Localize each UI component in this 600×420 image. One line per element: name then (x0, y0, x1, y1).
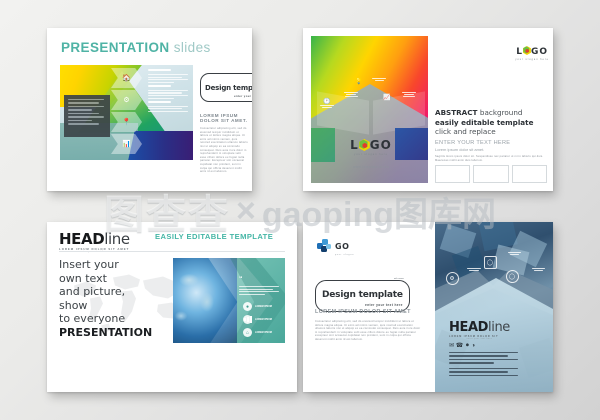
dark-text-card (64, 95, 110, 137)
quote-mark-icon: “ (239, 276, 243, 283)
divider (320, 105, 334, 106)
clock-icon: ◯ (506, 270, 519, 283)
slide-bl-body: Insert your own text and picture, show t… (59, 258, 171, 339)
heading-line3: click and replace (435, 127, 496, 136)
body-line-2: own text (59, 272, 107, 285)
home-icon: 🏠 (122, 74, 131, 82)
art-row-2[interactable]: LOREM IPSUM (243, 315, 272, 324)
heading-line2: easily editable template (435, 118, 533, 127)
slide-top-right[interactable]: 🕐 💡 (303, 28, 553, 191)
slide-br-section-heading: LOREM IPSUM DOLOR SIT AMET (315, 309, 411, 315)
chart-icon: 📊 (122, 140, 131, 148)
slide-top-left[interactable]: PRESENTATION slides 🏠 ⚙ 📍 📊 (47, 28, 252, 191)
divider (345, 96, 358, 97)
divider (68, 116, 104, 117)
divider (449, 371, 508, 372)
hexagon-logo-icon (359, 139, 370, 151)
divider (148, 69, 171, 71)
divider (449, 375, 518, 376)
divider (532, 268, 545, 269)
slide-br-text-panel: GO your slogan nick name Design template… (303, 222, 435, 392)
art-row-label: LOREM IPSUM (255, 305, 272, 308)
chart-icon: 📈 (377, 94, 397, 101)
divider (148, 111, 188, 112)
art-row-label: LOREM IPSUM (255, 318, 272, 321)
logo-wordmark: LGO (515, 46, 549, 57)
art-facet-1[interactable]: ⚙ (441, 272, 463, 285)
divider (346, 94, 356, 95)
clock-icon: 🕐 (317, 98, 337, 105)
cover-logo[interactable]: LGO your slogan here www.template-url.ru (341, 138, 401, 169)
slide-tl-title: PRESENTATION slides (61, 40, 211, 55)
gear-icon: ⚙ (123, 96, 129, 104)
design-template-badge[interactable]: nick name Design template enter your tex… (200, 73, 252, 102)
badge-subtitle: enter your text here (322, 303, 403, 307)
facet-item-2[interactable] (341, 92, 361, 99)
divider (449, 362, 494, 363)
slide-tl-body: Consectetur adipiscing elit, sed do eius… (200, 127, 248, 174)
divider (403, 96, 415, 97)
facet-item-4[interactable] (369, 78, 389, 82)
green-corner-shape (311, 128, 335, 162)
slide-tr-subheading: ENTER YOUR TEXT HERE (435, 140, 545, 146)
divider (148, 106, 188, 107)
divider (148, 77, 182, 78)
headline-bold: HEAD (59, 230, 104, 248)
body-strong: PRESENTATION (59, 326, 152, 339)
facet-item-3[interactable]: 💡 (349, 78, 369, 85)
slide-br-art-lines-1 (449, 352, 521, 366)
logo-url: www.template-url.ru (341, 165, 401, 169)
icon-row-glyphs: ✉ ☎ ⚫ ◑ (449, 342, 475, 349)
slide-tr-logo[interactable]: LGO your slogan here (515, 46, 549, 61)
divider (508, 252, 521, 253)
facet-lines (527, 268, 549, 271)
logo-wordmark-wrap: GO your slogan (335, 236, 354, 256)
slide-tr-heading: ABSTRACT background easily editable temp… (435, 108, 545, 137)
divider (68, 120, 92, 121)
slide-tl-title-light: slides (174, 40, 211, 55)
divider (68, 102, 99, 103)
slide-bottom-left[interactable]: HEADline LOREM IPSUM DOLOR SIT AMET ente… (47, 222, 297, 392)
facet-lines (369, 78, 389, 81)
divider (239, 291, 279, 292)
divider (449, 352, 518, 353)
body-line-5: to everyone (59, 312, 125, 325)
divider (148, 92, 182, 93)
badge-title: Design template (322, 290, 403, 300)
divider (344, 92, 358, 93)
slide-br-badge-wrap: nick name Design template enter your tex… (315, 280, 410, 312)
poster-canvas: PRESENTATION slides 🏠 ⚙ 📍 📊 (0, 0, 600, 420)
headline-sub2: enter your text here (449, 338, 510, 340)
divider (148, 98, 174, 99)
facet-item-1[interactable]: 🕐 (317, 98, 337, 109)
logo-slogan: your slogan here (515, 58, 549, 61)
quote-block: “ (239, 268, 281, 296)
divider (68, 123, 99, 124)
divider (68, 113, 99, 114)
pin-icon: ● (243, 302, 252, 311)
footer-cell (435, 165, 470, 183)
pin-icon: 📍 (122, 118, 131, 126)
headline-thin: line (104, 230, 129, 248)
headline-bold: HEAD (449, 320, 488, 335)
logo-letter-before: L (516, 47, 523, 57)
art-row-label: LOREM IPSUM (255, 331, 272, 334)
slide-br-logo[interactable]: GO your slogan (317, 236, 354, 256)
slide-tl-title-bold: PRESENTATION (61, 40, 170, 55)
divider (449, 355, 508, 356)
divider (239, 289, 273, 290)
slide-br-icon-row: ✉ ☎ ⚫ ◑ (449, 342, 475, 349)
facet-lines (317, 105, 337, 108)
headline-thin: line (488, 320, 510, 335)
badge-subtitle: enter your text here (205, 95, 252, 98)
divider (322, 107, 332, 108)
heading-light: background (480, 108, 523, 117)
badge-nickname: nick name (393, 278, 405, 280)
divider (534, 270, 543, 271)
divider (148, 79, 188, 80)
facet-item-6[interactable] (399, 92, 419, 99)
facet-lines (341, 92, 361, 97)
art-facet-5[interactable]: ◯ (501, 270, 523, 283)
slide-tr-body: Sagittis lorem ipsum dolor sit. Suspendi… (435, 155, 545, 162)
slide-bl-headline: HEADline LOREM IPSUM DOLOR SIT AMET ente… (59, 230, 130, 253)
facet-lines (503, 252, 525, 255)
divider (469, 270, 479, 271)
divider (68, 109, 92, 110)
slide-bottom-right[interactable]: GO your slogan nick name Design template… (303, 222, 553, 392)
art-facet-4[interactable] (503, 252, 525, 256)
gear-icon: ⚙ (446, 272, 459, 285)
puzzle-logo-icon (317, 239, 333, 253)
bulb-icon: 💡 (349, 78, 369, 85)
divider (239, 286, 279, 287)
slide-br-image: ⚙ ◯ ◯ (435, 222, 553, 392)
slide-tr-cover-art: 🕐 💡 (311, 36, 428, 183)
slide-tr-subline: Lorem ipsum dolor sit amet. (435, 147, 545, 152)
slide-tl-infographic: 🏠 ⚙ 📍 📊 (60, 65, 193, 160)
logo-letter-before: L (350, 138, 359, 152)
divider (239, 294, 265, 295)
divider (148, 95, 188, 96)
art-row-3[interactable]: ⌂ LOREM IPSUM (243, 328, 272, 337)
slide-br-headline: HEADline LOREM IPSUM DOLOR SIT enter you… (449, 320, 510, 340)
body-line-4: show (59, 299, 87, 312)
divider (375, 80, 384, 81)
slide-br-body: Consectetur adipiscing elit, sed do eius… (315, 320, 421, 342)
logo-wordmark: LGO (341, 138, 401, 152)
divider (148, 90, 188, 91)
logo-letter-after: GO (531, 47, 548, 57)
divider (68, 106, 104, 107)
divider (510, 254, 519, 255)
art-facet-3[interactable]: ◯ (479, 256, 501, 269)
facet-item-5[interactable]: 📈 (377, 94, 397, 101)
divider (68, 99, 104, 100)
divider (148, 101, 171, 103)
art-row-1[interactable]: ● LOREM IPSUM (243, 302, 272, 311)
footer-cell (512, 165, 547, 183)
art-facet-6[interactable] (527, 268, 549, 272)
design-template-badge[interactable]: nick name Design template enter your tex… (315, 280, 410, 312)
slide-tl-section-heading: LOREM IPSUM DOLOR SIT AMET. (200, 113, 248, 123)
infographic-text-column (148, 69, 190, 114)
logo-slogan: your slogan (335, 254, 354, 256)
badge-title: Design template (205, 84, 252, 92)
heading-bold: ABSTRACT (435, 108, 477, 117)
slide-tl-text-column: nick name Design template enter your tex… (200, 73, 248, 174)
logo-slogan: your slogan here (341, 153, 401, 156)
slide-bl-tagline: EASILY EDITABLE TEMPLATE (155, 232, 273, 241)
body-line-3: and picture, (59, 285, 125, 298)
divider (404, 94, 414, 95)
slide-tr-footer-cells (435, 165, 547, 183)
logo-wordmark: GO (335, 242, 349, 251)
divider (148, 85, 171, 87)
logo-letter-after: GO (370, 138, 392, 152)
facet-lines (399, 92, 419, 97)
divider (449, 368, 518, 369)
divider (372, 78, 386, 79)
headline-text: HEADline (449, 320, 510, 335)
divider (148, 74, 188, 75)
home-icon: ⌂ (243, 328, 252, 337)
bars-icon (243, 315, 252, 324)
footer-cell (473, 165, 508, 183)
camera-icon: ◯ (484, 256, 497, 269)
slide-tr-text-column: ABSTRACT background easily editable temp… (435, 108, 545, 162)
slide-bl-image: “ ● LOREM IPSUM LOREM IPSUM ⌂ LOREM IPSU… (173, 258, 285, 343)
divider (59, 251, 285, 252)
hexagon-logo-icon (523, 46, 531, 55)
divider (148, 82, 174, 83)
divider (148, 108, 182, 109)
divider (449, 359, 518, 360)
divider (402, 92, 416, 93)
headline-text: HEADline (59, 230, 130, 248)
body-line-1: Insert your (59, 258, 119, 271)
slide-br-art-lines-2 (449, 368, 521, 378)
